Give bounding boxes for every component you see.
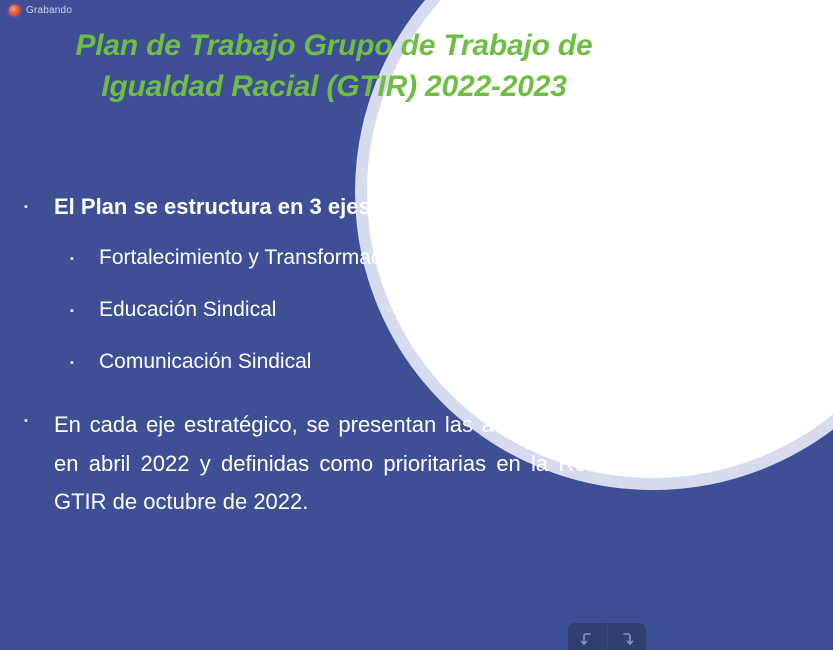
slide-content: Plan de Trabajo Grupo de Trabajo de Igua… [0, 0, 833, 650]
page-title: Plan de Trabajo Grupo de Trabajo de Igua… [34, 26, 634, 107]
bullet-list: ▪ El Plan se estructura en 3 ejes estrat… [0, 192, 680, 522]
list-item-label: En cada eje estratégico, se presentan la… [54, 406, 680, 522]
list-item: ▪ Educación Sindical [0, 296, 680, 326]
bullet-marker-icon: ▪ [22, 406, 54, 436]
previous-slide-button[interactable] [568, 623, 607, 650]
recording-indicator: Grabando [9, 5, 72, 16]
list-item-label: Comunicación Sindical [99, 348, 680, 376]
list-item: ▪ Comunicación Sindical [0, 348, 680, 378]
list-item: ▪ El Plan se estructura en 3 ejes estrat… [0, 192, 680, 222]
bullet-marker-icon: ▪ [70, 296, 99, 326]
bullet-marker-icon: ▪ [22, 192, 54, 222]
bullet-marker-icon: ▪ [70, 244, 99, 274]
list-item: ▪ En cada eje estratégico, se presentan … [0, 406, 680, 522]
arrow-turn-down-left-icon [579, 631, 595, 647]
next-slide-button[interactable] [607, 623, 647, 650]
record-dot-icon [9, 5, 20, 16]
list-item: ▪ Fortalecimiento y Transformación Sindi… [0, 244, 680, 274]
bullet-marker-icon: ▪ [70, 348, 99, 378]
slide-navigation-toolbar [568, 623, 646, 650]
presentation-screen: Grabando Plan de Trabajo Grupo de Trabaj… [0, 0, 833, 650]
list-item-label: El Plan se estructura en 3 ejes estratég… [54, 192, 680, 221]
arrow-turn-down-right-icon [619, 631, 635, 647]
list-item-label: Fortalecimiento y Transformación Sindica… [99, 244, 680, 272]
recording-label: Grabando [26, 6, 72, 16]
list-item-label: Educación Sindical [99, 296, 680, 324]
